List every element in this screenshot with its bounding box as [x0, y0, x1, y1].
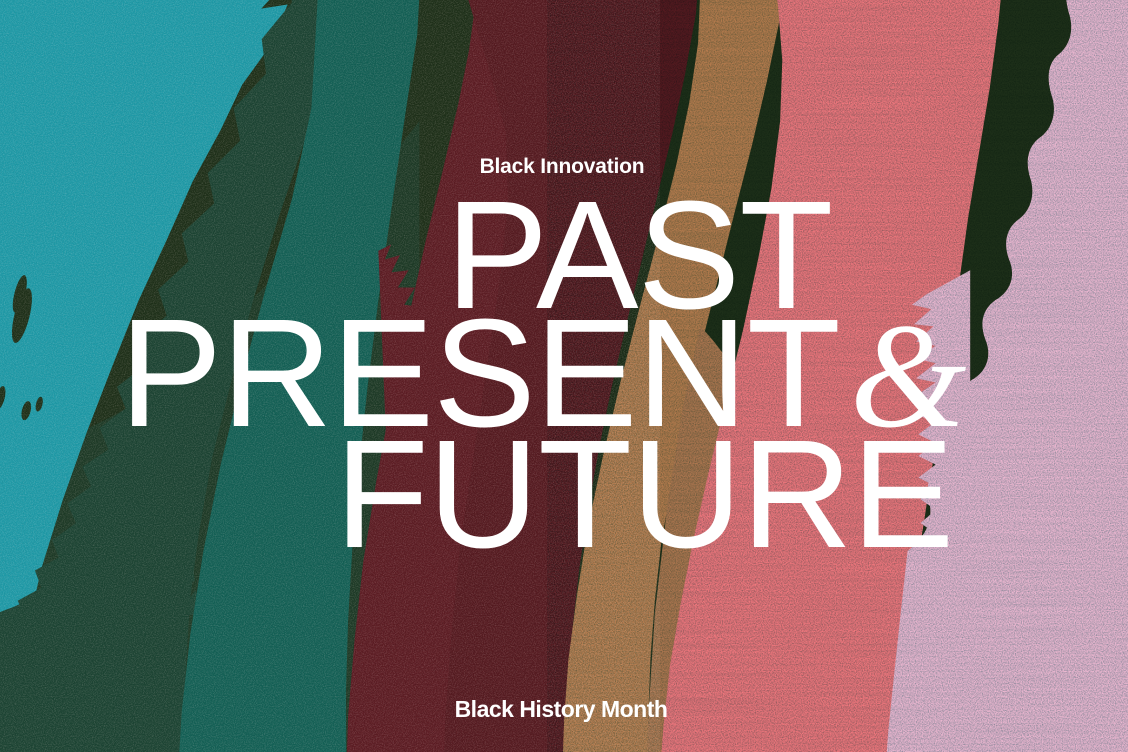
poster-canvas: Black Innovation PAST PRESENT& FUTURE Bl…: [0, 0, 1128, 752]
footer-text: Black History Month: [0, 698, 1125, 721]
poster-type: Black Innovation PAST PRESENT& FUTURE Bl…: [0, 0, 1128, 752]
headline-block: PAST PRESENT& FUTURE: [0, 196, 1128, 553]
